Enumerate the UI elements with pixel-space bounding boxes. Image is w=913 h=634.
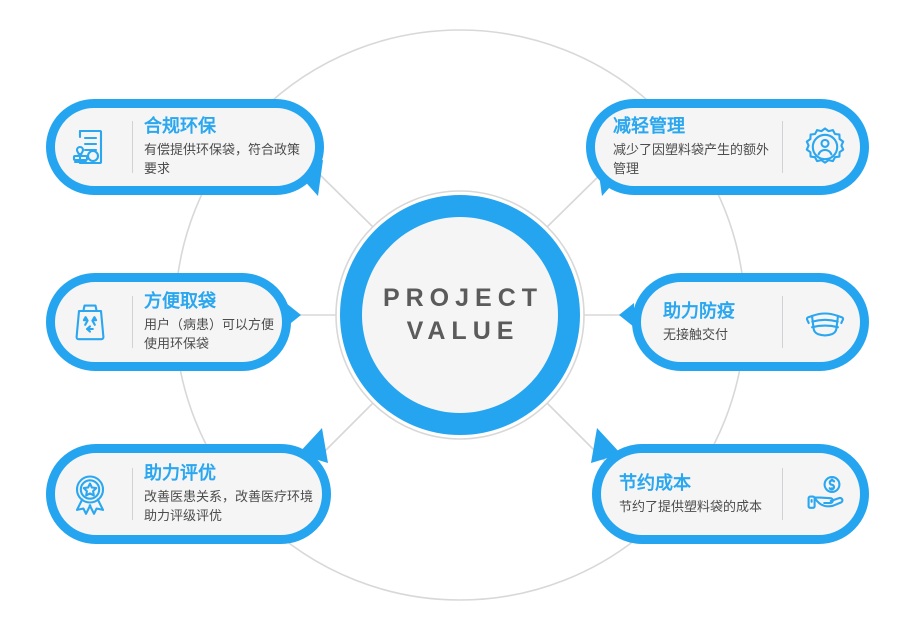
card-text: 合规环保 有偿提供环保袋，符合政策要求 [144, 115, 311, 179]
card-text: 节约成本 节约了提供塑料袋的成本 [605, 472, 771, 517]
card-bag[interactable]: 方便取袋 用户（病患）可以方便使用环保袋 [46, 273, 291, 371]
medal-ribbon-icon [59, 463, 121, 525]
card-divider [782, 121, 783, 173]
recycle-bag-icon [59, 291, 121, 353]
card-divider [132, 468, 133, 520]
card-description: 节约了提供塑料袋的成本 [619, 498, 771, 517]
card-title: 方便取袋 [144, 290, 278, 313]
center-hub: PROJECT VALUE [340, 195, 580, 435]
spoke-top-left [312, 167, 373, 227]
card-epidemic[interactable]: 助力防疫 无接触交付 [632, 273, 869, 371]
card-description: 用户（病患）可以方便使用环保袋 [144, 316, 278, 354]
card-text: 助力评优 改善医患关系，改善医疗环境助力评级评优 [144, 462, 318, 526]
card-title: 节约成本 [619, 472, 771, 495]
card-text: 减轻管理 减少了因塑料袋产生的额外管理 [599, 115, 771, 179]
face-mask-icon [794, 291, 856, 353]
center-title-line2: VALUE [401, 315, 520, 349]
card-cost[interactable]: 节约成本 节约了提供塑料袋的成本 [592, 444, 869, 544]
card-title: 减轻管理 [613, 115, 771, 138]
card-description: 有偿提供环保袋，符合政策要求 [144, 141, 311, 179]
card-divider [132, 121, 133, 173]
hand-money-icon [794, 463, 856, 525]
card-title: 助力评优 [144, 462, 318, 485]
center-hub-inner: PROJECT VALUE [362, 217, 558, 413]
card-description: 减少了因塑料袋产生的额外管理 [613, 141, 771, 179]
diagram-canvas: PROJECT VALUE 合规环保 有偿提供环保袋，符合政策要求 减轻管理 [0, 0, 913, 634]
card-divider [782, 468, 783, 520]
card-text: 方便取袋 用户（病患）可以方便使用环保袋 [144, 290, 278, 354]
card-divider [132, 296, 133, 348]
card-title: 助力防疫 [663, 300, 771, 323]
card-manage[interactable]: 减轻管理 减少了因塑料袋产生的额外管理 [586, 99, 869, 195]
card-description: 改善医患关系，改善医疗环境助力评级评优 [144, 488, 318, 526]
card-title: 合规环保 [144, 115, 311, 138]
center-title-line1: PROJECT [377, 282, 543, 316]
gear-person-icon [794, 116, 856, 178]
card-compliance[interactable]: 合规环保 有偿提供环保袋，符合政策要求 [46, 99, 324, 195]
card-award[interactable]: 助力评优 改善医患关系，改善医疗环境助力评级评优 [46, 444, 331, 544]
document-stamp-icon [59, 116, 121, 178]
card-description: 无接触交付 [663, 326, 771, 345]
card-text: 助力防疫 无接触交付 [645, 300, 771, 345]
card-divider [782, 296, 783, 348]
